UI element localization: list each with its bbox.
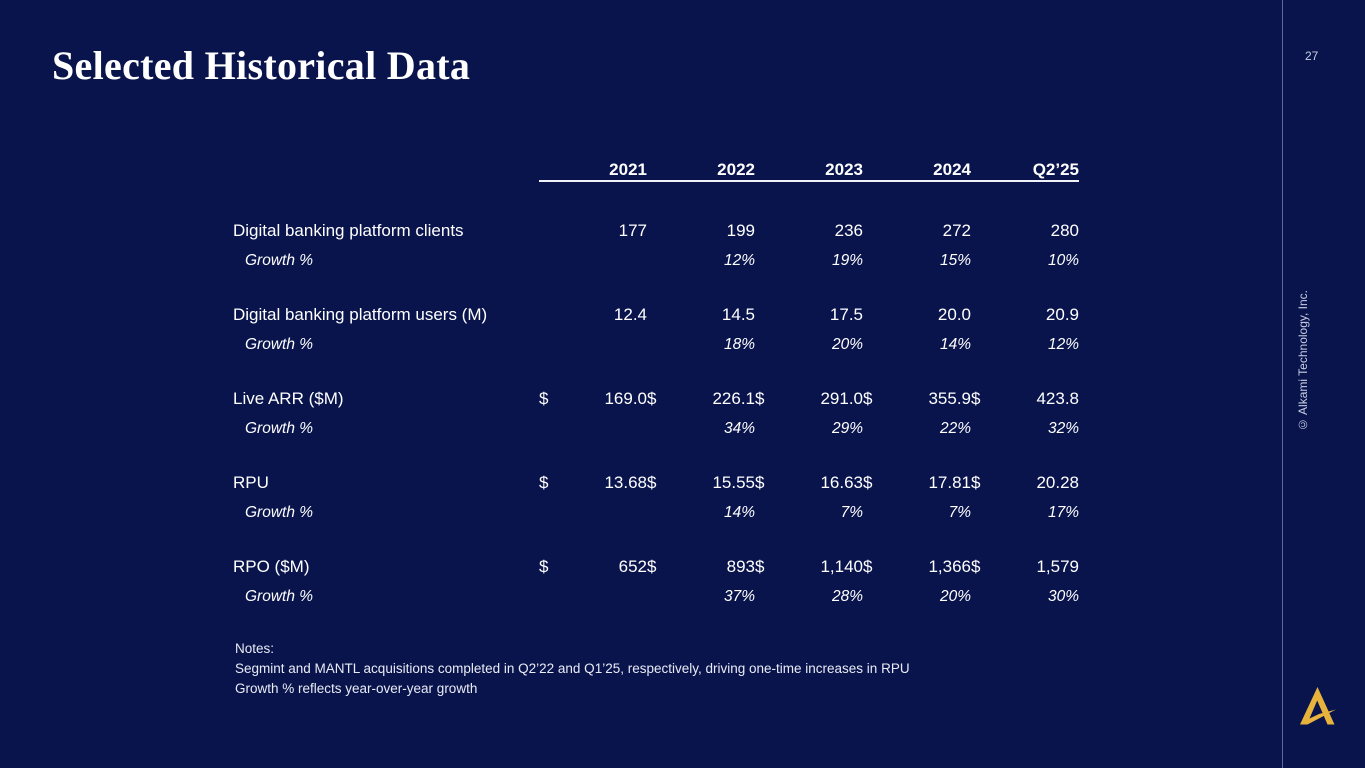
growth-users-2024: 14% xyxy=(863,325,971,354)
growth-clients-2021 xyxy=(539,241,647,270)
row-label-rpu: RPU xyxy=(233,463,539,493)
growth-rpo-2024: 20% xyxy=(863,577,971,606)
cell-value: 169.0 xyxy=(604,389,647,408)
currency-symbol: $ xyxy=(647,389,656,409)
historical-data-table: 2021 2022 2023 2024 Q2’25 Digital bankin… xyxy=(233,160,1079,606)
cell-value: 15.55 xyxy=(712,473,755,492)
column-header-2021: 2021 xyxy=(539,160,647,181)
growth-clients-2023: 19% xyxy=(755,241,863,270)
footnotes: Notes: Segmint and MANTL acquisitions co… xyxy=(235,639,910,699)
table-row: RPU $13.68 $15.55 $16.63 $17.81 $20.28 xyxy=(233,463,1079,493)
growth-rpu-2023: 7% xyxy=(755,493,863,522)
block-spacer-row xyxy=(233,522,1079,547)
cell-clients-2021: 177 xyxy=(539,211,647,241)
growth-rpo-q225: 30% xyxy=(971,577,1079,606)
cell-live-arr-2022: $226.1 xyxy=(647,379,755,409)
notes-line-2: Growth % reflects year-over-year growth xyxy=(235,679,910,699)
growth-label-live-arr: Growth % xyxy=(233,409,539,438)
currency-symbol: $ xyxy=(539,473,548,493)
cell-rpu-2022: $15.55 xyxy=(647,463,755,493)
growth-rpu-q225: 17% xyxy=(971,493,1079,522)
table-row-growth: Growth % 12% 19% 15% 10% xyxy=(233,241,1079,270)
growth-clients-2024: 15% xyxy=(863,241,971,270)
page-title: Selected Historical Data xyxy=(52,42,470,89)
table-header-row: 2021 2022 2023 2024 Q2’25 xyxy=(233,160,1079,181)
table-row: Digital banking platform users (M) 12.4 … xyxy=(233,295,1079,325)
cell-rpu-2021: $13.68 xyxy=(539,463,647,493)
table-row-growth: Growth % 18% 20% 14% 12% xyxy=(233,325,1079,354)
table-row-growth: Growth % 34% 29% 22% 32% xyxy=(233,409,1079,438)
cell-value: 1,366 xyxy=(928,557,971,576)
currency-symbol: $ xyxy=(863,389,872,409)
growth-live-arr-2024: 22% xyxy=(863,409,971,438)
currency-symbol: $ xyxy=(539,389,548,409)
cell-clients-2024: 272 xyxy=(863,211,971,241)
slide-canvas: Selected Historical Data 2021 2022 2023 … xyxy=(0,0,1365,768)
growth-users-2021 xyxy=(539,325,647,354)
cell-rpo-2021: $652 xyxy=(539,547,647,577)
currency-symbol: $ xyxy=(647,557,656,577)
cell-rpu-2024: $17.81 xyxy=(863,463,971,493)
growth-label-rpu: Growth % xyxy=(233,493,539,522)
cell-value: 20.28 xyxy=(1036,473,1079,492)
logo-a-shape xyxy=(1300,687,1336,725)
growth-rpo-2022: 37% xyxy=(647,577,755,606)
cell-live-arr-2024: $355.9 xyxy=(863,379,971,409)
currency-symbol: $ xyxy=(971,473,980,493)
row-label-clients: Digital banking platform clients xyxy=(233,211,539,241)
cell-value: 226.1 xyxy=(712,389,755,408)
growth-label-clients: Growth % xyxy=(233,241,539,270)
column-header-2023: 2023 xyxy=(755,160,863,181)
column-header-label xyxy=(233,160,539,181)
cell-users-2024: 20.0 xyxy=(863,295,971,325)
growth-label-rpo: Growth % xyxy=(233,577,539,606)
growth-rpo-2023: 28% xyxy=(755,577,863,606)
growth-live-arr-q225: 32% xyxy=(971,409,1079,438)
cell-value: 291.0 xyxy=(820,389,863,408)
currency-symbol: $ xyxy=(971,389,980,409)
cell-live-arr-2023: $291.0 xyxy=(755,379,863,409)
row-label-users: Digital banking platform users (M) xyxy=(233,295,539,325)
block-spacer-row xyxy=(233,354,1079,379)
header-spacer-row xyxy=(233,181,1079,211)
growth-users-2023: 20% xyxy=(755,325,863,354)
table-row: RPO ($M) $652 $893 $1,140 $1,366 $1,579 xyxy=(233,547,1079,577)
table-header: 2021 2022 2023 2024 Q2’25 xyxy=(233,160,1079,181)
cell-rpo-2023: $1,140 xyxy=(755,547,863,577)
row-label-rpo: RPO ($M) xyxy=(233,547,539,577)
table-row: Live ARR ($M) $169.0 $226.1 $291.0 $355.… xyxy=(233,379,1079,409)
copyright-notice: © Alkami Technology, Inc. xyxy=(1296,290,1316,432)
cell-value: 355.9 xyxy=(928,389,971,408)
row-label-live-arr: Live ARR ($M) xyxy=(233,379,539,409)
growth-clients-2022: 12% xyxy=(647,241,755,270)
growth-users-q225: 12% xyxy=(971,325,1079,354)
block-spacer-row xyxy=(233,270,1079,295)
column-header-q225: Q2’25 xyxy=(971,160,1079,181)
cell-rpo-2022: $893 xyxy=(647,547,755,577)
currency-symbol: $ xyxy=(539,557,548,577)
growth-live-arr-2021 xyxy=(539,409,647,438)
growth-rpo-2021 xyxy=(539,577,647,606)
cell-users-2022: 14.5 xyxy=(647,295,755,325)
currency-symbol: $ xyxy=(971,557,980,577)
growth-clients-q225: 10% xyxy=(971,241,1079,270)
cell-value: 17.81 xyxy=(928,473,971,492)
cell-value: 652 xyxy=(619,557,647,576)
growth-live-arr-2022: 34% xyxy=(647,409,755,438)
table-row-growth: Growth % 37% 28% 20% 30% xyxy=(233,577,1079,606)
currency-symbol: $ xyxy=(755,473,764,493)
cell-clients-2022: 199 xyxy=(647,211,755,241)
cell-clients-q225: 280 xyxy=(971,211,1079,241)
cell-rpo-q225: $1,579 xyxy=(971,547,1079,577)
table-body: Digital banking platform clients 177 199… xyxy=(233,181,1079,606)
cell-value: 1,140 xyxy=(820,557,863,576)
column-header-2024: 2024 xyxy=(863,160,971,181)
notes-line-1: Segmint and MANTL acquisitions completed… xyxy=(235,659,910,679)
right-rail-divider xyxy=(1282,0,1283,768)
cell-value: 16.63 xyxy=(820,473,863,492)
notes-heading: Notes: xyxy=(235,639,910,659)
cell-users-2023: 17.5 xyxy=(755,295,863,325)
column-header-2022: 2022 xyxy=(647,160,755,181)
alkami-a-logo-icon xyxy=(1294,684,1340,730)
currency-symbol: $ xyxy=(863,473,872,493)
cell-value: 1,579 xyxy=(1036,557,1079,576)
block-spacer-row xyxy=(233,438,1079,463)
currency-symbol: $ xyxy=(755,557,764,577)
growth-users-2022: 18% xyxy=(647,325,755,354)
cell-rpu-2023: $16.63 xyxy=(755,463,863,493)
cell-rpu-q225: $20.28 xyxy=(971,463,1079,493)
cell-live-arr-2021: $169.0 xyxy=(539,379,647,409)
growth-rpu-2021 xyxy=(539,493,647,522)
table-row: Digital banking platform clients 177 199… xyxy=(233,211,1079,241)
alkami-logo xyxy=(1294,684,1340,730)
currency-symbol: $ xyxy=(863,557,872,577)
cell-clients-2023: 236 xyxy=(755,211,863,241)
cell-users-2021: 12.4 xyxy=(539,295,647,325)
growth-rpu-2024: 7% xyxy=(863,493,971,522)
cell-value: 893 xyxy=(727,557,755,576)
cell-rpo-2024: $1,366 xyxy=(863,547,971,577)
growth-label-users: Growth % xyxy=(233,325,539,354)
cell-users-q225: 20.9 xyxy=(971,295,1079,325)
cell-value: 13.68 xyxy=(604,473,647,492)
cell-live-arr-q225: $423.8 xyxy=(971,379,1079,409)
page-number: 27 xyxy=(1305,49,1318,63)
table-row-growth: Growth % 14% 7% 7% 17% xyxy=(233,493,1079,522)
cell-value: 423.8 xyxy=(1036,389,1079,408)
growth-live-arr-2023: 29% xyxy=(755,409,863,438)
currency-symbol: $ xyxy=(755,389,764,409)
growth-rpu-2022: 14% xyxy=(647,493,755,522)
currency-symbol: $ xyxy=(647,473,656,493)
